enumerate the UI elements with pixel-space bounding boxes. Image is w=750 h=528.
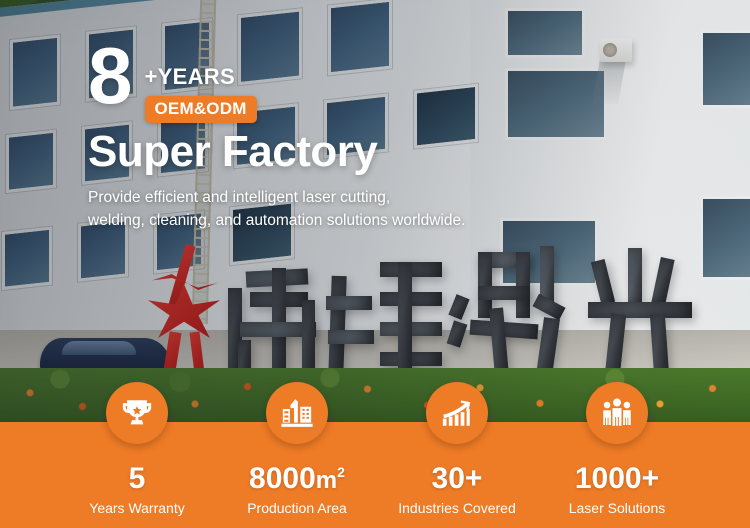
stat-label: Industries Covered (382, 500, 532, 516)
stat-value-number: 8000 (249, 462, 316, 495)
stat-value: 8000m2 (222, 464, 372, 494)
stat-value-number: 5 (129, 462, 146, 495)
trophy-icon (120, 396, 154, 430)
stat-icon-circle (266, 382, 328, 444)
stat-label: Laser Solutions (532, 500, 702, 516)
stat-label: Production Area (222, 500, 372, 516)
people-group-icon (600, 396, 634, 430)
stat-value: 1000+ (532, 464, 702, 494)
hero-number: 8 (88, 42, 131, 111)
stat-icon-circle (106, 382, 168, 444)
oem-odm-badge: OEM&ODM (145, 96, 257, 123)
stat-value: 30+ (382, 464, 532, 494)
hero-subtitle-line-1: Provide efficient and intelligent laser … (88, 187, 558, 210)
stat-icon-circle (586, 382, 648, 444)
stat-value-unit: m (316, 467, 337, 494)
hero-headline: Super Factory (88, 127, 558, 177)
hero-copy: 8 +YEARS OEM&ODM Super Factory Provide e… (88, 42, 558, 232)
stat-icon-circle (426, 382, 488, 444)
super-factory-banner: 8 +YEARS OEM&ODM Super Factory Provide e… (0, 0, 750, 528)
hero-number-row: 8 +YEARS OEM&ODM (88, 42, 558, 123)
stat-value-superscript: 2 (337, 464, 345, 480)
stat-value-number: 1000+ (575, 462, 659, 495)
hero-years-label: +YEARS (145, 64, 257, 90)
stat-label: Years Warranty (62, 500, 212, 516)
stats-bar: 5 Years Warranty 8000m2 Production Area (0, 422, 750, 528)
stat-value: 5 (62, 464, 212, 494)
hero-subtitle: Provide efficient and intelligent laser … (88, 187, 558, 232)
hero-subtitle-line-2: welding, cleaning, and automation soluti… (88, 210, 558, 233)
growth-chart-icon (440, 396, 474, 430)
stat-value-number: 30+ (432, 462, 483, 495)
factory-building-icon (280, 396, 314, 430)
hero-years-block: +YEARS OEM&ODM (145, 42, 257, 123)
